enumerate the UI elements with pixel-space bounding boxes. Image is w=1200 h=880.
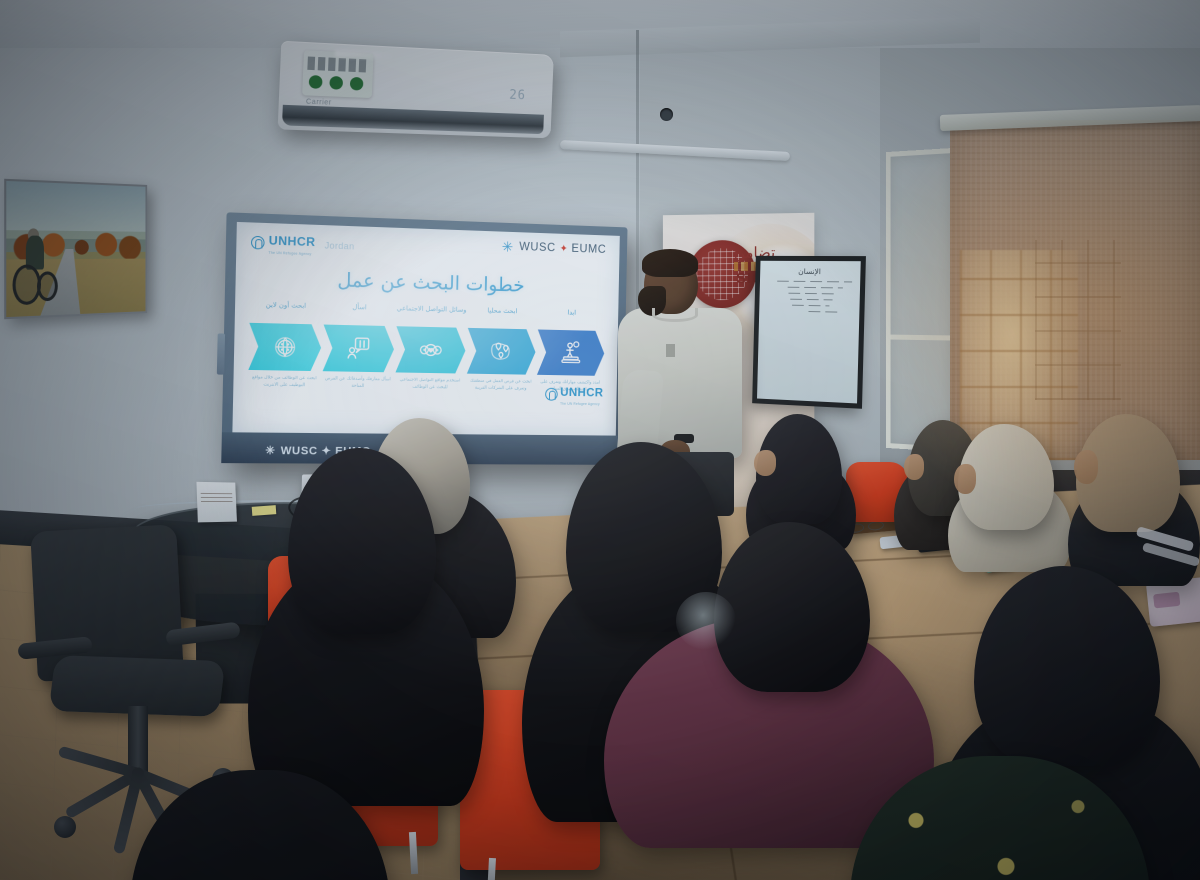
step-description: استخدم مواقع التواصل الاجتماعي للبحث عن … — [395, 376, 466, 392]
screen-display-area: UNHCR The UN Refugee Agency Jordan ✳ WUS… — [232, 222, 619, 436]
presenter-hair — [642, 249, 698, 277]
unhcr-mark-icon — [251, 236, 265, 250]
step-chevron — [537, 329, 605, 375]
step-label: ابدا — [567, 309, 576, 329]
step-item: وسائل التواصل الاجتماعي استخدم — [395, 304, 467, 392]
attendee-person — [170, 700, 340, 880]
unhcr-country-label: Jordan — [325, 240, 355, 251]
attendee-person — [714, 522, 870, 692]
table-tent-card — [196, 482, 237, 523]
step-label: ابحث محليا — [487, 306, 517, 327]
flipchart-handwriting-line — [792, 305, 829, 307]
air-conditioner-unit: 26 Carrier — [278, 41, 554, 139]
attendee-person — [288, 448, 436, 634]
person-chat-icon — [345, 335, 372, 362]
flipchart-page: الإنسان — [757, 261, 861, 404]
step-chevron — [395, 326, 465, 373]
attendee-person — [1076, 414, 1180, 532]
step-label: وسائل التواصل الاجتماعي — [396, 304, 466, 326]
chair-gas-lift — [128, 706, 148, 772]
wusc-starburst-icon: ✳ — [502, 240, 516, 254]
unhcr-footer-tagline: The UN Refugee Agency — [560, 402, 603, 406]
slide-title: خطوات البحث عن عمل — [250, 266, 606, 298]
ac-temperature-display: 26 — [509, 88, 526, 103]
window-mullion — [891, 334, 951, 340]
step-item: ابحث محليا ابحث عن فرص العمل في منطقتك و… — [466, 306, 537, 394]
step-chevron — [467, 328, 536, 375]
painting-wheelchair-figure — [9, 235, 62, 311]
step-chevron — [248, 323, 321, 371]
ac-air-vent — [282, 105, 544, 134]
step-item: اسأل اسأل معارفك وأصدقائك عن الفرص المتا… — [322, 302, 396, 391]
map-pins-icon — [489, 338, 515, 364]
step-chevron — [323, 325, 395, 373]
slide-footer-unhcr-logo: UNHCR The UN Refugee Agency — [545, 383, 604, 406]
unhcr-footer-wordmark: UNHCR — [560, 385, 603, 399]
flipchart-handwriting-line — [787, 287, 843, 289]
wall-painting — [4, 179, 147, 320]
maple-leaf-icon: ✦ — [560, 243, 568, 254]
presenter-shirt-logo — [666, 344, 675, 357]
step-item: ابدا امدد واكتشف مهاراتك وتعرف على ما يت… — [536, 308, 606, 395]
step-description: ابحث عن فرص العمل في منطقتك وتعرف على ال… — [466, 378, 535, 394]
wusc-wordmark: WUSC — [519, 241, 556, 254]
step-label: اسأل — [352, 303, 367, 324]
presenter-collar — [652, 308, 698, 322]
attendee-person — [958, 424, 1054, 530]
flipchart-handwriting-line — [809, 311, 840, 313]
flipchart-handwriting-line — [790, 299, 832, 301]
flipchart-handwriting-line — [778, 281, 853, 283]
person-podium-icon — [558, 340, 583, 366]
step-description: ابحث عن الوظائف من خلال مواقع التوظيف عل… — [247, 374, 321, 390]
attendee-person — [756, 414, 842, 524]
attendee-person — [880, 660, 1080, 880]
wusc-starburst-icon: ✳ — [265, 444, 275, 457]
training-room-photo: 26 Carrier UNHCR The UN Refugee Agency J… — [0, 0, 1200, 880]
flipchart-board: الإنسان — [752, 256, 866, 409]
step-item: ابحث أون لاين — [247, 300, 322, 390]
flipchart-handwriting-line — [789, 293, 836, 295]
window-grille — [1035, 240, 1121, 400]
unhcr-mark-icon — [545, 388, 558, 401]
step-label: ابحث أون لاين — [265, 301, 306, 322]
wall-hole — [660, 108, 673, 121]
screen-side-buttons[interactable] — [217, 333, 225, 374]
window-frame — [886, 148, 955, 452]
unhcr-wordmark: UNHCR — [269, 233, 316, 249]
unhcr-tagline: The UN Refugee Agency — [268, 251, 315, 257]
flipchart-title: الإنسان — [768, 267, 853, 277]
unhcr-logo: UNHCR The UN Refugee Agency Jordan — [251, 231, 355, 258]
social-hearts-icon — [418, 337, 444, 364]
fabric-pattern — [676, 592, 736, 650]
steps-flow-diagram: ابدا امدد واكتشف مهاراتك وتعرف على ما يت… — [244, 300, 609, 394]
eumc-wordmark: EUMC — [571, 243, 606, 256]
wusc-eumc-logo: ✳ WUSC ✦ EUMC — [502, 240, 607, 257]
slide-content: UNHCR The UN Refugee Agency Jordan ✳ WUS… — [232, 222, 619, 436]
yellow-note — [252, 505, 277, 516]
slide-header: UNHCR The UN Refugee Agency Jordan ✳ WUS… — [251, 231, 607, 266]
step-description: اسأل معارفك وأصدقائك عن الفرص المتاحة — [322, 375, 394, 391]
globe-network-icon — [271, 334, 298, 361]
